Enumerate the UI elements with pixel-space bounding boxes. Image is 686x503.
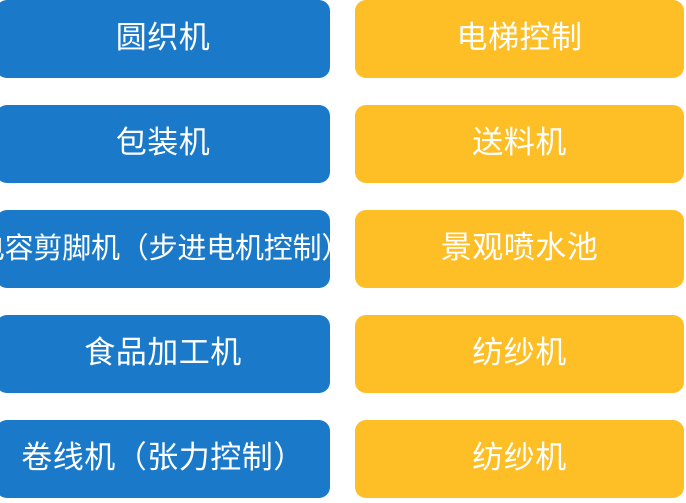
button-grid: 圆织机 电梯控制 包装机 送料机 电容剪脚机（步进电机控制） 景观喷水池 食品加…	[0, 0, 686, 503]
left-item-2[interactable]: 包装机	[0, 105, 330, 183]
left-item-1[interactable]: 圆织机	[0, 0, 330, 78]
left-item-4[interactable]: 食品加工机	[0, 315, 330, 393]
left-item-3[interactable]: 电容剪脚机（步进电机控制）	[0, 210, 330, 288]
right-item-1-label: 电梯控制	[457, 23, 583, 56]
left-item-5-label: 卷线机（张力控制）	[21, 443, 305, 476]
right-item-2-label: 送料机	[472, 128, 567, 161]
right-item-3[interactable]: 景观喷水池	[355, 210, 684, 288]
right-item-4[interactable]: 纺纱机	[355, 315, 684, 393]
right-item-5[interactable]: 纺纱机	[355, 420, 684, 498]
left-item-2-label: 包装机	[116, 128, 211, 161]
right-item-5-label: 纺纱机	[472, 443, 567, 476]
right-item-2[interactable]: 送料机	[355, 105, 684, 183]
left-item-5[interactable]: 卷线机（张力控制）	[0, 420, 330, 498]
right-item-3-label: 景观喷水池	[441, 233, 599, 266]
left-item-1-label: 圆织机	[116, 23, 211, 56]
left-item-3-label: 电容剪脚机（步进电机控制）	[0, 234, 350, 265]
right-item-4-label: 纺纱机	[472, 338, 567, 371]
right-item-1[interactable]: 电梯控制	[355, 0, 684, 78]
left-item-4-label: 食品加工机	[84, 338, 242, 371]
